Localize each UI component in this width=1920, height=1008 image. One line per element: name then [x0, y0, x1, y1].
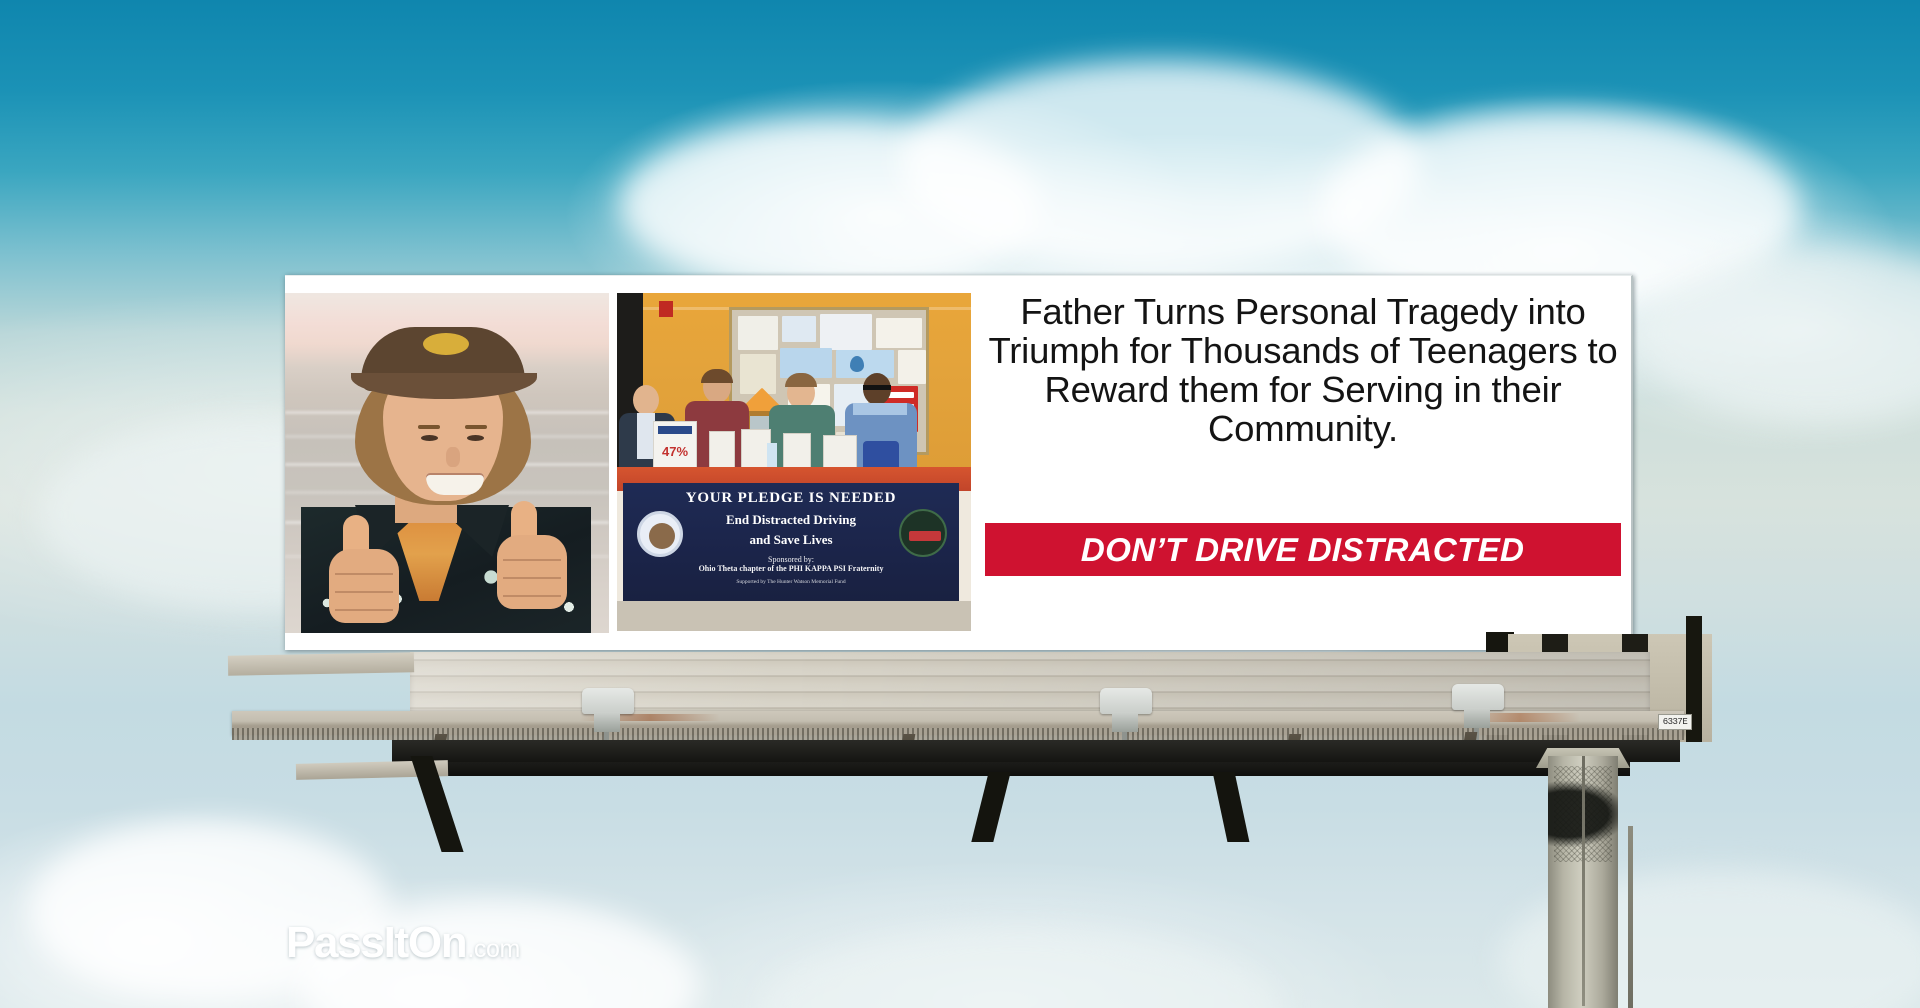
nose [446, 447, 460, 467]
support-beam-lower [430, 762, 1630, 776]
support-beam [392, 740, 1680, 762]
eyebrow-right [465, 425, 487, 429]
thumbs-up-left [329, 515, 399, 623]
photo-pledge-table: 47% YOUR PLEDGE IS NEEDED E [617, 293, 971, 631]
logo-part-on: On [408, 918, 467, 968]
floodlight-fixture [582, 688, 634, 714]
passiton-logo[interactable]: Pass It On .com [286, 918, 520, 968]
cloud-puff [620, 120, 1040, 290]
diagonal-brace [971, 772, 1010, 842]
memorial-seal [637, 511, 683, 557]
cta-banner-text: DON’T DRIVE DISTRACTED [1081, 531, 1525, 569]
cloud-puff [900, 60, 1420, 270]
banner-line-5: Ohio Theta chapter of the PHI KAPPA PSI … [623, 564, 959, 573]
logo-part-pass: Pass [286, 918, 384, 968]
cap-logo [423, 333, 469, 355]
floor [617, 601, 971, 631]
left-end-extension [228, 652, 414, 676]
pledge-banner: YOUR PLEDGE IS NEEDED End Distracted Dri… [623, 483, 959, 601]
pole-side-rod [1628, 826, 1633, 1008]
eye-right [467, 435, 484, 441]
billboard-headline: Father Turns Personal Tragedy into Trium… [985, 292, 1621, 448]
floodlight-fixture [1452, 684, 1504, 710]
hallway-scene: 47% YOUR PLEDGE IS NEEDED E [617, 293, 971, 631]
thumbs-up-right [497, 501, 567, 609]
logo-suffix-com: .com [467, 935, 520, 964]
cloud-puff [1640, 250, 1920, 420]
fire-alarm [659, 301, 673, 317]
head [369, 329, 517, 505]
pole-conduit [1582, 756, 1585, 1006]
smile [426, 473, 484, 495]
banner-line-6: Supported by The Hunter Watson Memorial … [623, 579, 959, 585]
banner-line-4: Sponsored by: [623, 555, 959, 564]
floodlight-fixture [1100, 688, 1152, 714]
logo-part-it: It [384, 918, 408, 968]
brochure [709, 431, 735, 471]
eyebrow-left [418, 425, 440, 429]
billboard-scene: 47% YOUR PLEDGE IS NEEDED E [0, 0, 1920, 1008]
eye-left [421, 435, 438, 441]
billboard-white-face: 47% YOUR PLEDGE IS NEEDED E [285, 275, 1633, 650]
billboard-panel: 47% YOUR PLEDGE IS NEEDED E [285, 275, 1633, 650]
banner-line-1: YOUR PLEDGE IS NEEDED [623, 490, 959, 507]
eyeglasses [863, 385, 891, 390]
diagonal-brace [1213, 772, 1250, 842]
panel-id-plate: 6337E [1658, 714, 1692, 730]
photo-young-man-thumbs-up [285, 293, 609, 633]
h2o-flyer [836, 350, 894, 378]
fraternity-crest [899, 509, 947, 557]
cta-banner-dont-drive-distracted: DON’T DRIVE DISTRACTED [985, 523, 1621, 576]
